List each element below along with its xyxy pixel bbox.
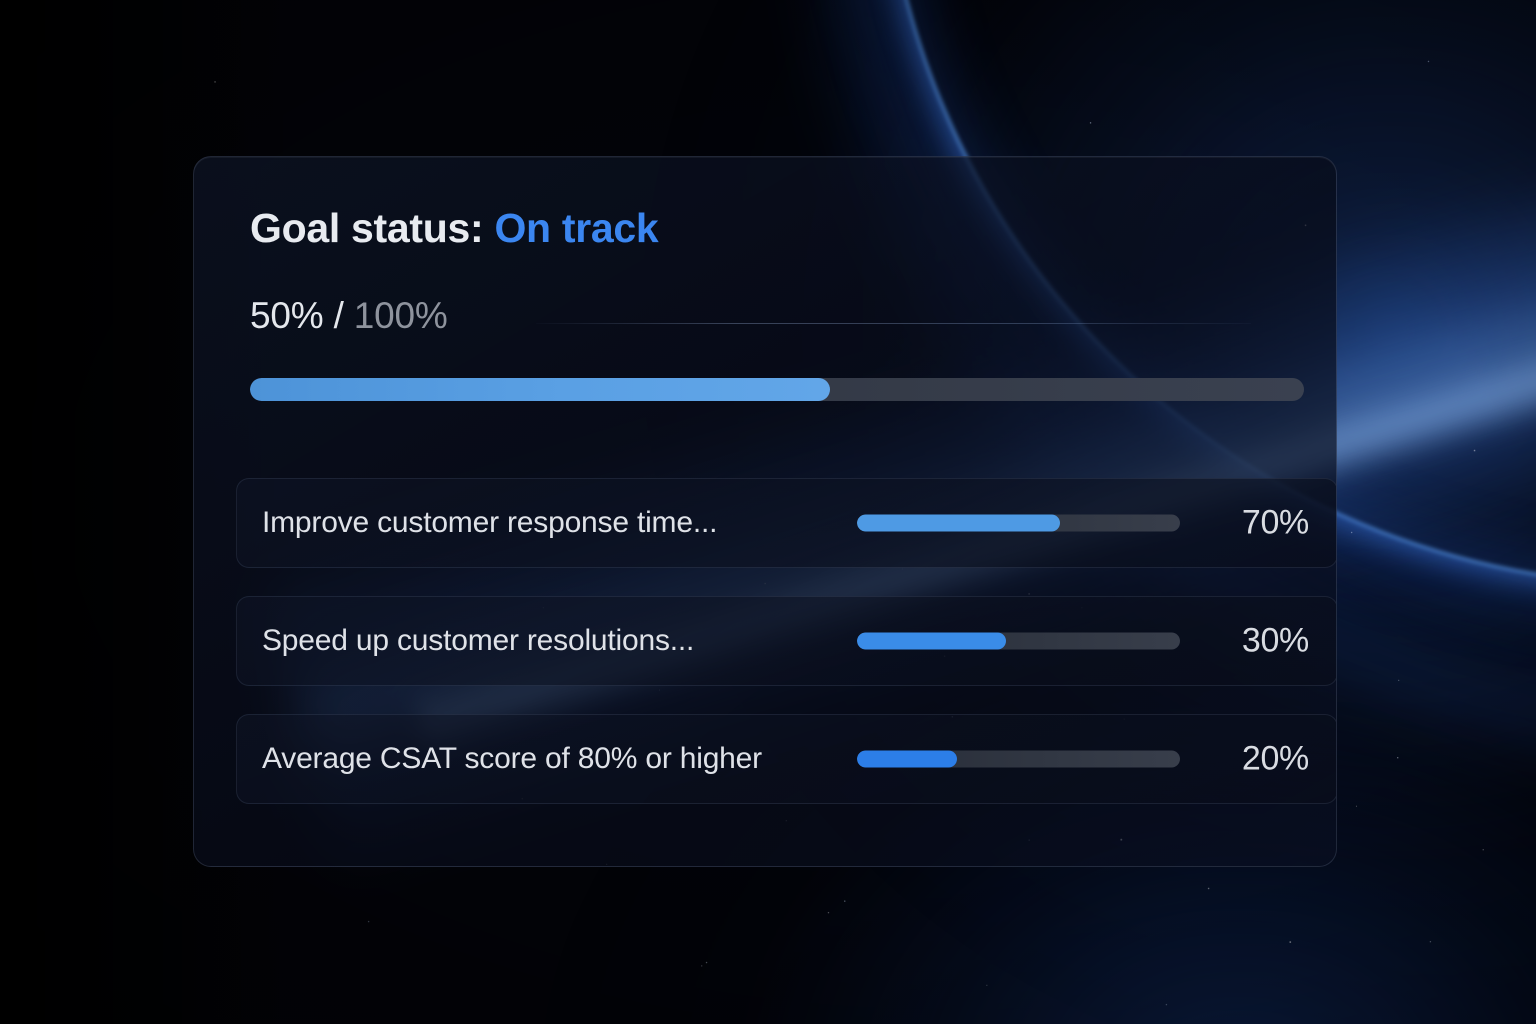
goal-progress-track — [857, 515, 1180, 532]
goal-progress-fill — [857, 633, 1006, 650]
list-item[interactable]: Speed up customer resolutions... 30% — [236, 596, 1337, 686]
goal-percent: 20% — [1242, 740, 1309, 779]
overall-separator: / — [334, 295, 344, 336]
goal-progress-track — [857, 633, 1180, 650]
page-title: Goal status: On track — [250, 205, 658, 252]
list-item[interactable]: Average CSAT score of 80% or higher 20% — [236, 714, 1337, 804]
goal-list: Improve customer response time... 70% Sp… — [236, 478, 1337, 804]
goal-progress-track — [857, 751, 1180, 768]
goal-status-card: Goal status: On track 50% / 100% Improve… — [193, 156, 1337, 867]
goal-label: Average CSAT score of 80% or higher — [262, 742, 762, 776]
goal-status-prefix: Goal status: — [250, 205, 483, 251]
overall-progress-label: 50% / 100% — [250, 295, 448, 337]
list-item[interactable]: Improve customer response time... 70% — [236, 478, 1337, 568]
overall-progress-track — [250, 378, 1304, 401]
goal-progress-fill — [857, 751, 957, 768]
goal-percent: 70% — [1242, 504, 1309, 543]
goal-progress-fill — [857, 515, 1060, 532]
overall-total-value: 100% — [354, 295, 448, 336]
status-badge: On track — [494, 205, 658, 251]
goal-label: Speed up customer resolutions... — [262, 624, 694, 658]
overall-progress-fill — [250, 378, 830, 401]
goal-percent: 30% — [1242, 622, 1309, 661]
goal-label: Improve customer response time... — [262, 506, 717, 540]
header-divider — [536, 323, 1251, 324]
overall-current-value: 50% — [250, 295, 323, 336]
